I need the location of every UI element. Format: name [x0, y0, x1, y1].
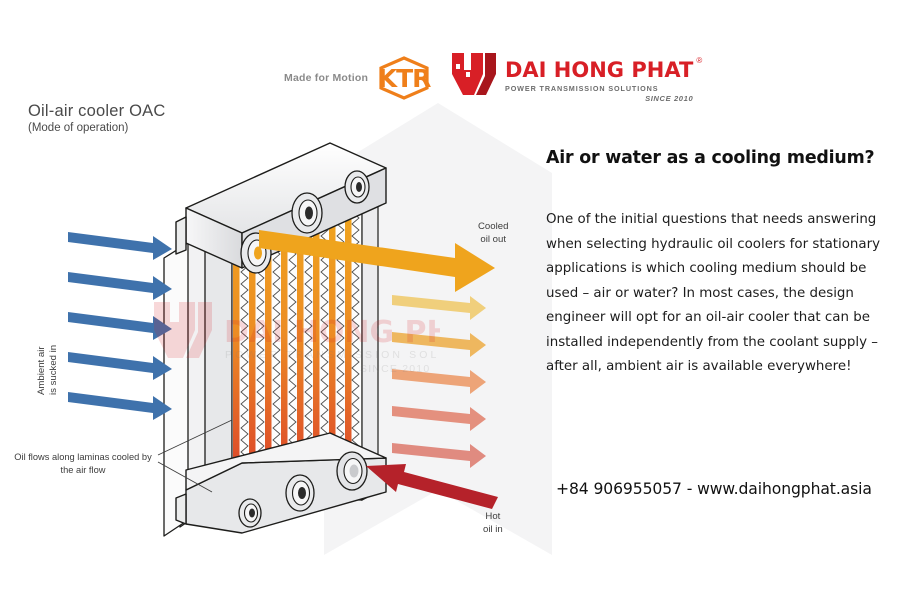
- article-headline: Air or water as a cooling medium?: [546, 148, 882, 168]
- ambient-air-label-line2: is sucked in: [48, 345, 60, 395]
- hot-oil-in-line1: Hot: [483, 511, 503, 524]
- hot-oil-in-line2: oil in: [483, 524, 503, 537]
- contact-line[interactable]: +84 906955057 - www.daihongphat.asia: [556, 480, 872, 498]
- port-bottom-left: [239, 499, 261, 527]
- ambient-air-label-line1: Ambient air: [36, 345, 48, 395]
- exhaust-air-arrows: [392, 295, 486, 468]
- port-top-middle: [292, 193, 322, 233]
- article-column: Air or water as a cooling medium? One of…: [546, 148, 882, 380]
- cooled-oil-out-label: Cooled oil out: [478, 221, 508, 247]
- hot-oil-in-label: Hot oil in: [483, 511, 503, 537]
- ktr-wordmark: KTR: [378, 64, 431, 93]
- ambient-air-label: Ambient air is sucked in: [36, 345, 60, 395]
- lamina-note: Oil flows along laminas cooled by the ai…: [8, 451, 158, 477]
- cooled-oil-out-line2: oil out: [478, 234, 508, 247]
- port-bottom-middle: [286, 475, 314, 511]
- poster-canvas: Made for Motion KTR DAI HONG PHAT: [0, 0, 900, 603]
- ambient-air-arrows: [68, 232, 172, 420]
- port-bottom-right: [337, 452, 367, 490]
- article-paragraph: One of the initial questions that needs …: [546, 208, 882, 380]
- port-top-right: [345, 171, 369, 203]
- cooled-oil-out-line1: Cooled: [478, 221, 508, 234]
